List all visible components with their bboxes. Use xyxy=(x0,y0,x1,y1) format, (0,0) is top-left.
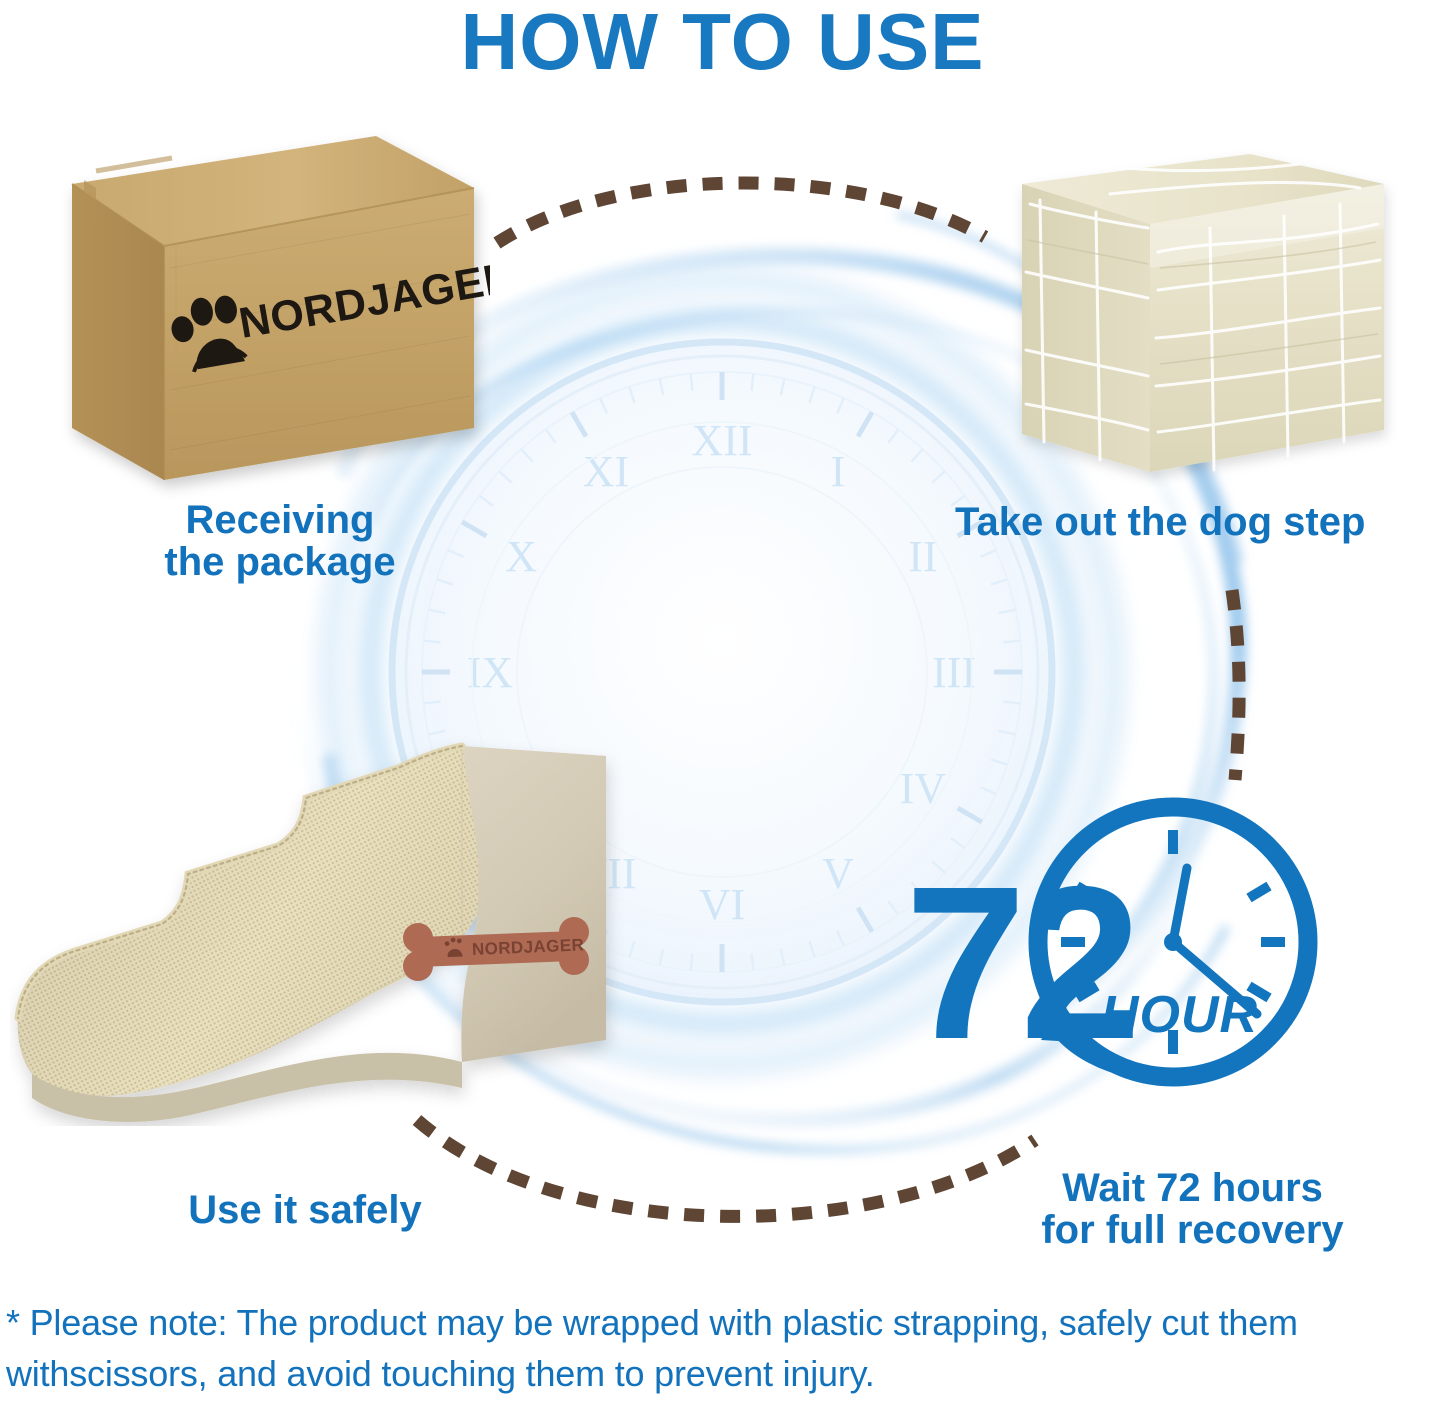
watermark-numeral: IX xyxy=(467,648,513,697)
watermark-numeral: V xyxy=(822,849,854,898)
clock-unit: HOUR xyxy=(1101,986,1258,1044)
caption-wait-for-recovery: Wait 72 hours for full recovery xyxy=(940,1168,1445,1251)
caption-receiving-the-package: Receiving the package xyxy=(0,500,560,583)
footnote-text: * Please note: The product may be wrappe… xyxy=(6,1297,1438,1399)
watermark-numeral: III xyxy=(932,648,976,697)
seventy-two-hour-clock-graphic: 72 HOUR xyxy=(905,782,1345,1112)
dog-step-product-photo: NORDJAGER xyxy=(10,706,625,1126)
clock-number: 72 xyxy=(905,842,1135,1085)
watermark-numeral: XI xyxy=(583,447,629,496)
dashed-arrow-top xyxy=(497,183,985,243)
page-title: HOW TO USE xyxy=(0,0,1445,88)
caption-take-out-the-dog-step: Take out the dog step xyxy=(955,502,1445,544)
infographic-stage: XIIIIIIIIIVVVIVIIVIIIIXXXI HOW TO USE xyxy=(0,0,1445,1404)
watermark-numeral: I xyxy=(831,447,846,496)
cardboard-box-photo: NORDJAGER xyxy=(60,128,490,500)
caption-use-it-safely: Use it safely xyxy=(0,1190,610,1232)
plastic-wrapped-product-photo xyxy=(1000,142,1405,487)
